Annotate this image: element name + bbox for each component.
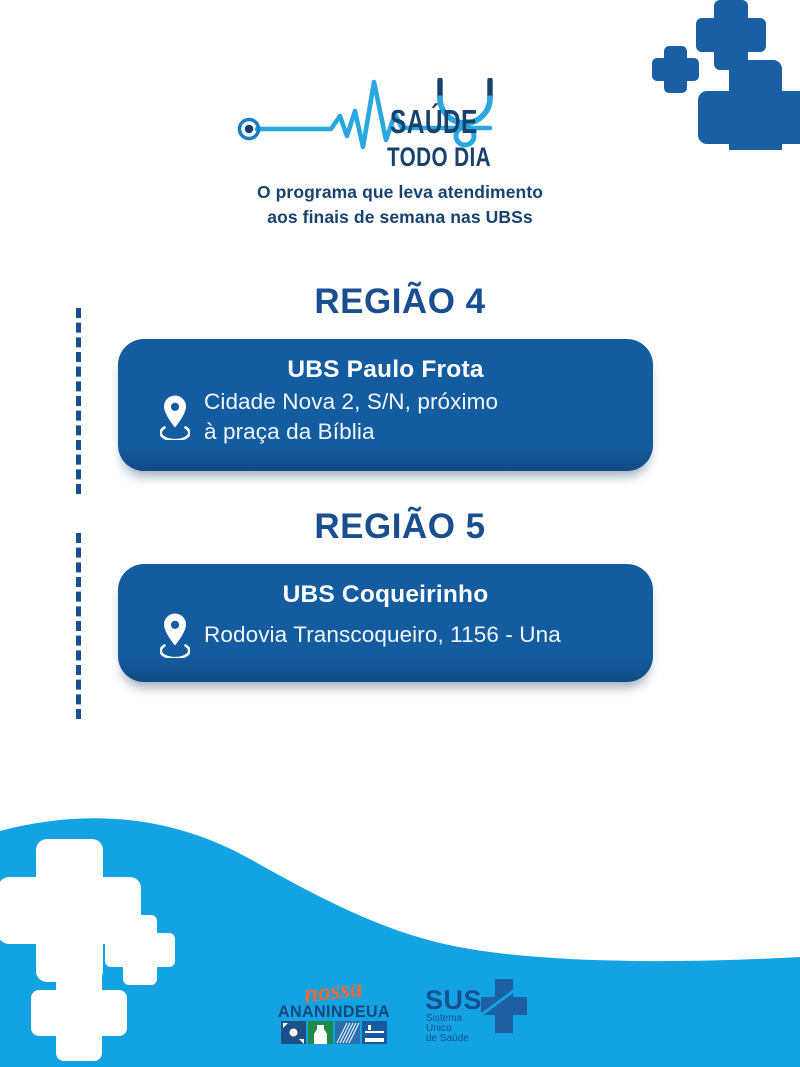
sus-acronym: SUS (425, 985, 482, 1015)
subtitle-line-1: O programa que leva atendimento (0, 180, 800, 205)
location-pin-icon (160, 394, 190, 440)
unit-name-4: UBS Paulo Frota (140, 355, 631, 385)
unit-card-wrapper-5: UBS Coqueirinho Rodovia Transcoqueiro, 1… (118, 564, 653, 682)
footer-logo-row: nossa ANANINDEUA (0, 975, 800, 1045)
subtitle-line-2: aos finais de semana nas UBSs (0, 205, 800, 230)
cross-icon-medium (696, 0, 766, 70)
unit-address-5-line1: Rodovia Transcoqueiro, 1156 - Una (204, 620, 561, 650)
logo-wordmark-line1: SAÚDE (390, 103, 478, 141)
unit-card-wrapper-4: UBS Paulo Frota Cidade Nova 2, S/N, próx… (118, 339, 653, 471)
location-pin-icon (160, 612, 190, 658)
sus-logo: SUS Sistema Único de Saúde (423, 975, 527, 1045)
dashed-accent-rule-4 (76, 308, 81, 494)
region-section-4: REGIÃO 4 UBS Paulo Frota Cidade Nova 2, … (0, 283, 800, 321)
logo-wordmark-line2: TODO DIA (387, 142, 491, 172)
region-section-5: REGIÃO 5 UBS Coqueirinho Rodovia Transco… (0, 508, 800, 546)
region-title-5: REGIÃO 5 (0, 508, 800, 546)
region-title-4: REGIÃO 4 (0, 283, 800, 321)
dashed-accent-rule-5 (76, 533, 81, 719)
unit-address-4-line2: à praça da Bíblia (204, 417, 498, 447)
ananindeua-main-word: ANANINDEUA (278, 1003, 390, 1021)
unit-address-row-5: Rodovia Transcoqueiro, 1156 - Una (140, 612, 631, 658)
ananindeua-icon-tiles (281, 1021, 387, 1044)
poster-canvas: SAÚDE TODO DIA O programa que leva atend… (0, 0, 800, 1067)
unit-address-5: Rodovia Transcoqueiro, 1156 - Una (204, 620, 561, 650)
nossa-ananindeua-logo: nossa ANANINDEUA (273, 975, 395, 1045)
unit-name-5: UBS Coqueirinho (140, 580, 631, 610)
saude-todo-dia-logo: SAÚDE TODO DIA (235, 78, 565, 174)
sus-cross-icon (481, 979, 527, 1033)
unit-address-4-line1: Cidade Nova 2, S/N, próximo (204, 387, 498, 417)
unit-card-coqueirinho[interactable]: UBS Coqueirinho Rodovia Transcoqueiro, 1… (118, 564, 653, 682)
sus-line-3: de Saúde (426, 1033, 469, 1044)
cross-icon-large-white (0, 839, 141, 982)
brand-logo-block: SAÚDE TODO DIA O programa que leva atend… (0, 78, 800, 230)
unit-card-paulo-frota[interactable]: UBS Paulo Frota Cidade Nova 2, S/N, próx… (118, 339, 653, 471)
unit-address-4: Cidade Nova 2, S/N, próximo à praça da B… (204, 387, 498, 447)
program-subtitle: O programa que leva atendimento aos fina… (0, 180, 800, 230)
unit-address-row-4: Cidade Nova 2, S/N, próximo à praça da B… (140, 387, 631, 447)
